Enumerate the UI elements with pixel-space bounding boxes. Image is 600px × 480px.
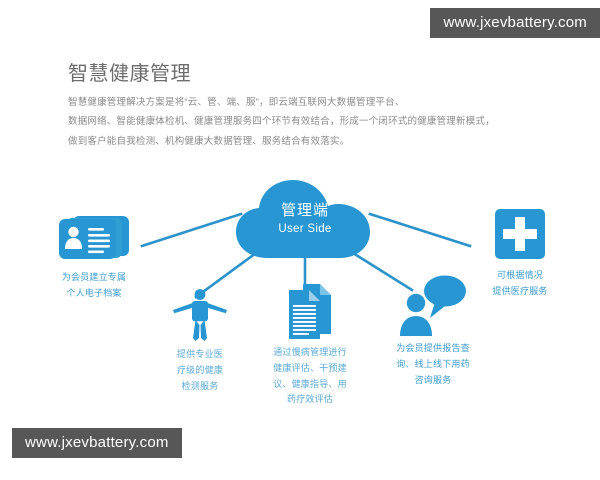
cloud-title: 管理端 bbox=[232, 202, 378, 221]
human-body-icon bbox=[169, 288, 231, 342]
caption-line: 议、健康指导、用 bbox=[254, 377, 366, 393]
cloud-label-group: 管理端 User Side bbox=[232, 202, 378, 238]
diagram-node-member-record[interactable]: 为会员建立专属 个人电子档案 bbox=[38, 213, 150, 302]
person-speech-bubble-icon bbox=[397, 274, 469, 336]
connector-to-member-record bbox=[142, 214, 241, 246]
documents-icon bbox=[281, 282, 339, 340]
watermark-top: www.jxevbattery.com bbox=[430, 8, 600, 38]
caption-line: 检测服务 bbox=[148, 379, 252, 395]
node-caption-member-record: 为会员建立专属 个人电子档案 bbox=[38, 270, 150, 302]
caption-line: 为会员提供报告查 bbox=[375, 341, 491, 357]
diagram-node-center[interactable]: 管理端 User Side bbox=[232, 178, 378, 264]
node-caption-consultation: 为会员提供报告查 询、线上线下用药 咨询服务 bbox=[375, 341, 491, 388]
cloud-subtitle: User Side bbox=[232, 221, 378, 238]
page-description-line: 做到客户能自我检测、机构健康大数据管理、服务结合有效落实。 bbox=[68, 132, 538, 151]
diagram-node-consultation[interactable]: 为会员提供报告查 询、线上线下用药 咨询服务 bbox=[375, 274, 491, 388]
page-title: 智慧健康管理 bbox=[68, 62, 538, 86]
caption-line: 询、线上线下用药 bbox=[375, 357, 491, 373]
diagram-node-health-detection[interactable]: 提供专业医 疗级的健康 检测服务 bbox=[148, 288, 252, 394]
page-description: 智慧健康管理解决方案是将“云、管、端、服”，即云端互联网大数据管理平台、 数据网… bbox=[68, 93, 538, 151]
watermark-bottom: www.jxevbattery.com bbox=[12, 428, 182, 458]
caption-line: 提供专业医 bbox=[148, 347, 252, 363]
caption-line: 疗级的健康 bbox=[148, 363, 252, 379]
caption-line: 健康评估、干预建 bbox=[254, 361, 366, 377]
diagram-node-chronic-disease[interactable]: 通过慢病管理进行 健康评估、干预建 议、健康指导、用 药疗效评估 bbox=[254, 282, 366, 408]
page-description-line: 智慧健康管理解决方案是将“云、管、端、服”，即云端互联网大数据管理平台、 bbox=[68, 93, 538, 112]
caption-line: 为会员建立专属 bbox=[38, 270, 150, 286]
page-description-line: 数据网络、智能健康体检机、健康管理服务四个环节有效结合，形成一个闭环式的健康管理… bbox=[68, 112, 538, 131]
caption-line: 咨询服务 bbox=[375, 373, 491, 389]
caption-line: 个人电子档案 bbox=[38, 286, 150, 302]
medical-cross-icon bbox=[494, 208, 546, 260]
heading-block: 智慧健康管理 智慧健康管理解决方案是将“云、管、端、服”，即云端互联网大数据管理… bbox=[68, 62, 538, 151]
node-caption-health-detection: 提供专业医 疗级的健康 检测服务 bbox=[148, 347, 252, 394]
connector-to-medical-service bbox=[370, 214, 470, 246]
caption-line: 通过慢病管理进行 bbox=[254, 345, 366, 361]
id-card-icon bbox=[55, 213, 133, 263]
node-caption-chronic-disease: 通过慢病管理进行 健康评估、干预建 议、健康指导、用 药疗效评估 bbox=[254, 345, 366, 408]
caption-line: 药疗效评估 bbox=[254, 392, 366, 408]
